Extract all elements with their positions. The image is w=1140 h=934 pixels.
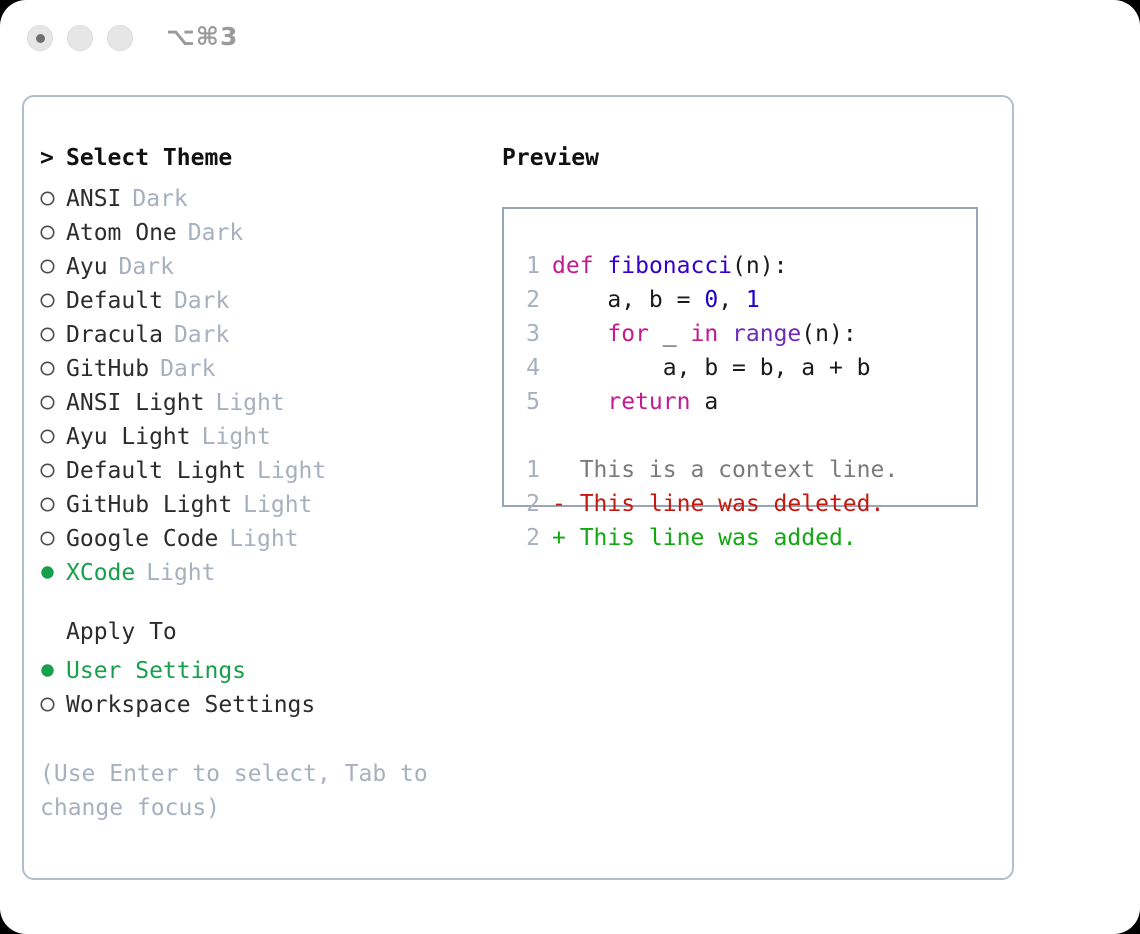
code-token: [718, 321, 732, 347]
radio-unselected-icon: [40, 385, 66, 410]
theme-list-item[interactable]: XCodeLight: [40, 555, 510, 589]
diff-line-number: 2: [514, 487, 540, 521]
code-line: 4 a, b = b, a + b: [514, 351, 898, 385]
code-token: for: [607, 321, 649, 347]
code-token: return: [607, 389, 690, 415]
radio-unselected-icon: [40, 249, 66, 274]
keyboard-shortcut-label: ⌥⌘3: [166, 22, 238, 51]
theme-list: ANSIDarkAtom OneDarkAyuDarkDefaultDarkDr…: [40, 181, 510, 589]
close-dot-icon: [36, 34, 45, 43]
code-line: 2 a, b = 0, 1: [514, 283, 898, 317]
radio-unselected-icon: [40, 521, 66, 546]
select-theme-heading-label: Select Theme: [66, 145, 232, 171]
diff-line: 2+ This line was added.: [514, 521, 898, 555]
theme-name: XCode: [66, 560, 135, 586]
prompt-caret-icon: >: [40, 147, 66, 170]
preview-box: 1def fibonacci(n):2 a, b = 0, 13 for _ i…: [502, 207, 978, 507]
theme-list-item[interactable]: ANSI LightLight: [40, 385, 510, 419]
code-line: 5 return a: [514, 385, 898, 419]
theme-name: ANSI Light: [66, 390, 204, 416]
diff-line-text: + This line was added.: [552, 525, 857, 551]
apply-to-heading: Apply To: [40, 619, 510, 653]
panel-inner: > Select Theme ANSIDarkAtom OneDarkAyuDa…: [24, 97, 1012, 878]
radio-unselected-icon: [40, 215, 66, 240]
preview-column: Preview 1def fibonacci(n):2 a, b = 0, 13…: [502, 145, 1002, 507]
radio-selected-icon: [40, 653, 66, 678]
radio-unselected-icon: [40, 487, 66, 512]
theme-list-item[interactable]: GitHub LightLight: [40, 487, 510, 521]
apply-to-heading-label: Apply To: [66, 619, 177, 645]
code-token: (n):: [801, 321, 856, 347]
code-token: (n):: [732, 253, 787, 279]
select-theme-heading: > Select Theme: [40, 145, 510, 181]
apply-to-option-label: User Settings: [66, 658, 246, 684]
theme-kind-badge: Light: [257, 458, 326, 484]
apply-to-option-label: Workspace Settings: [66, 692, 315, 718]
diff-line-text: This is a context line.: [552, 457, 898, 483]
theme-list-item[interactable]: DefaultDark: [40, 283, 510, 317]
theme-kind-badge: Dark: [188, 220, 243, 246]
theme-kind-badge: Light: [243, 492, 312, 518]
theme-name: GitHub Light: [66, 492, 232, 518]
theme-name: Default: [66, 288, 163, 314]
theme-list-item[interactable]: ANSIDark: [40, 181, 510, 215]
theme-name: GitHub: [66, 356, 149, 382]
apply-to-option[interactable]: User Settings: [40, 653, 510, 687]
theme-kind-badge: Dark: [132, 186, 187, 212]
radio-unselected-icon: [40, 687, 66, 712]
title-bar: ⌥⌘3: [0, 0, 1140, 78]
code-line-number: 4: [514, 351, 540, 385]
theme-list-item[interactable]: Google CodeLight: [40, 521, 510, 555]
diff-line: 1 This is a context line.: [514, 453, 898, 487]
theme-name: ANSI: [66, 186, 121, 212]
theme-selector-column: > Select Theme ANSIDarkAtom OneDarkAyuDa…: [40, 145, 510, 825]
code-line: 1def fibonacci(n):: [514, 249, 898, 283]
code-preview-area: 1def fibonacci(n):2 a, b = 0, 13 for _ i…: [514, 249, 898, 555]
code-line-number: 3: [514, 317, 540, 351]
theme-name: Dracula: [66, 322, 163, 348]
code-token: a, b = b, a + b: [552, 355, 871, 381]
code-line: 3 for _ in range(n):: [514, 317, 898, 351]
code-token: [552, 321, 607, 347]
apply-to-option[interactable]: Workspace Settings: [40, 687, 510, 721]
code-token: 1: [746, 287, 760, 313]
theme-kind-badge: Light: [229, 526, 298, 552]
radio-selected-icon: [40, 555, 66, 580]
diff-line-number: 2: [514, 521, 540, 555]
theme-kind-badge: Dark: [119, 254, 174, 280]
code-line-number: 1: [514, 249, 540, 283]
code-token: range: [732, 321, 801, 347]
preview-title: Preview: [502, 145, 1002, 181]
diff-line: 2- This line was deleted.: [514, 487, 898, 521]
code-line-number: 2: [514, 283, 540, 317]
theme-kind-badge: Dark: [174, 288, 229, 314]
zoom-button-icon[interactable]: [107, 25, 133, 51]
radio-unselected-icon: [40, 351, 66, 376]
window-controls: [27, 25, 133, 51]
code-token: [552, 389, 607, 415]
theme-list-item[interactable]: Atom OneDark: [40, 215, 510, 249]
keyboard-hint-text: (Use Enter to select, Tab to change focu…: [40, 757, 440, 825]
theme-kind-badge: Light: [215, 390, 284, 416]
theme-list-item[interactable]: GitHubDark: [40, 351, 510, 385]
close-button-icon[interactable]: [27, 25, 53, 51]
theme-name: Google Code: [66, 526, 218, 552]
radio-unselected-icon: [40, 181, 66, 206]
apply-to-list: User SettingsWorkspace Settings: [40, 653, 510, 721]
theme-kind-badge: Dark: [160, 356, 215, 382]
radio-unselected-icon: [40, 283, 66, 308]
code-token: _: [649, 321, 691, 347]
theme-name: Atom One: [66, 220, 177, 246]
radio-unselected-icon: [40, 453, 66, 478]
theme-name: Ayu: [66, 254, 108, 280]
theme-name: Ayu Light: [66, 424, 191, 450]
code-token: fibonacci: [607, 253, 732, 279]
theme-list-item[interactable]: DraculaDark: [40, 317, 510, 351]
theme-kind-badge: Dark: [174, 322, 229, 348]
diff-line-number: 1: [514, 453, 540, 487]
code-token: 0: [704, 287, 718, 313]
code-token: a: [690, 389, 718, 415]
radio-unselected-icon: [40, 419, 66, 444]
diff-line-text: - This line was deleted.: [552, 491, 884, 517]
code-line-number: 5: [514, 385, 540, 419]
code-token: def: [552, 253, 594, 279]
theme-name: Default Light: [66, 458, 246, 484]
theme-kind-badge: Light: [202, 424, 271, 450]
main-panel: > Select Theme ANSIDarkAtom OneDarkAyuDa…: [22, 95, 1014, 880]
app-window: ⌥⌘3 > Select Theme ANSIDarkAtom OneDarkA…: [0, 0, 1140, 934]
minimize-button-icon[interactable]: [67, 25, 93, 51]
code-diff-separator: [514, 419, 898, 453]
code-token: a, b =: [552, 287, 704, 313]
code-token: ,: [718, 287, 746, 313]
radio-unselected-icon: [40, 317, 66, 342]
code-token: in: [690, 321, 718, 347]
theme-list-item[interactable]: Ayu LightLight: [40, 419, 510, 453]
theme-kind-badge: Light: [146, 560, 215, 586]
code-token: [594, 253, 608, 279]
theme-list-item[interactable]: AyuDark: [40, 249, 510, 283]
theme-list-item[interactable]: Default LightLight: [40, 453, 510, 487]
